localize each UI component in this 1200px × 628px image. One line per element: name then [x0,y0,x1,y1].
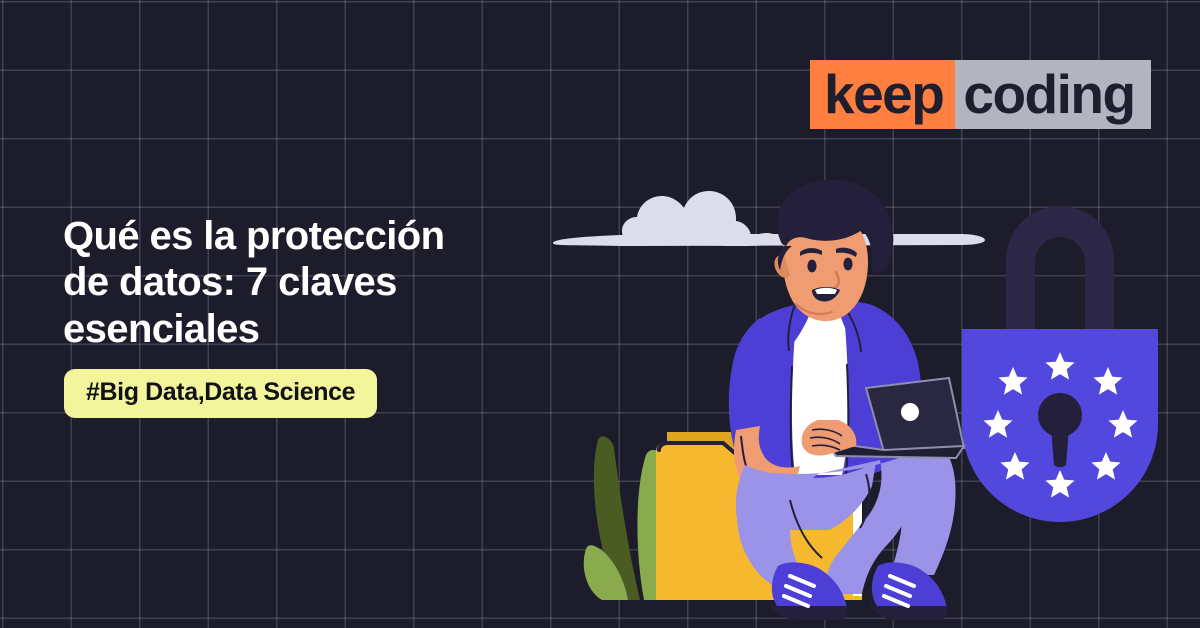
page-title: Qué es la protección de datos: 7 claves … [63,213,543,352]
laptop-icon [826,378,964,458]
blog-card: keep coding Qué es la protección de dato… [0,0,1200,628]
logo-coding-text: coding [955,60,1150,129]
star-ring [983,352,1137,498]
plant-icon [584,436,662,600]
folder-icon [656,432,862,600]
cloud-icon [553,191,985,246]
sneaker-right [870,562,948,620]
keepcoding-logo[interactable]: keep coding [810,60,1151,129]
padlock-icon [962,206,1158,522]
category-tag-badge[interactable]: #Big Data,Data Science [64,369,377,418]
sneaker-left [770,562,848,620]
person-illustration [729,180,964,620]
logo-keep-text: keep [810,60,955,129]
